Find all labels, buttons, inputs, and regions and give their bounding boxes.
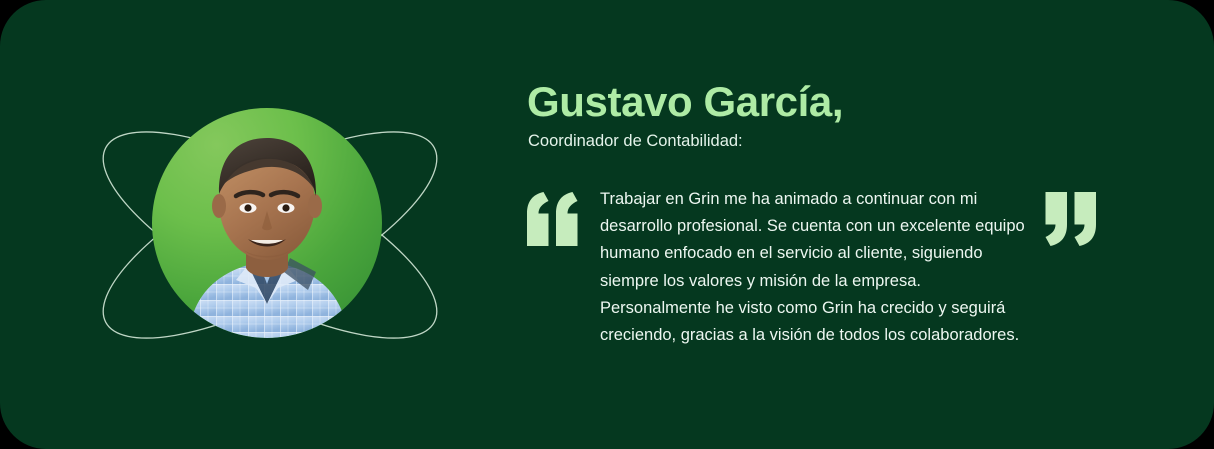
person-photo-icon [152,108,382,338]
person-role: Coordinador de Contabilidad: [528,130,743,152]
testimonial-card: Gustavo García, Coordinador de Contabili… [0,0,1214,449]
quote-open-icon [527,192,579,246]
portrait-block [0,0,480,449]
quote-text: Trabajar en Grin me ha animado a continu… [600,186,1025,349]
person-name: Gustavo García, [527,76,843,128]
avatar [152,108,382,338]
quote-close-icon [1044,192,1096,246]
testimonial-text-block: Gustavo García, Coordinador de Contabili… [527,0,1147,449]
